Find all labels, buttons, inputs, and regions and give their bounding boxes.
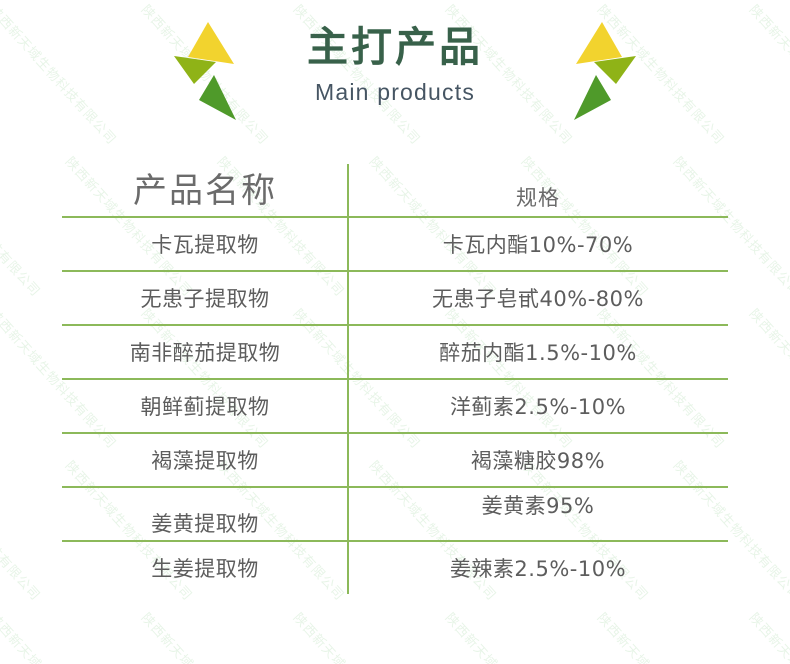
column-header-specification: 规格 — [348, 150, 728, 216]
table-header-row: 产品名称 规格 — [62, 150, 728, 216]
cell-product-name: 南非醉茄提取物 — [62, 326, 348, 378]
table-row: 卡瓦提取物 卡瓦内酯10%-70% — [62, 218, 728, 270]
products-table: 产品名称 规格 卡瓦提取物 卡瓦内酯10%-70% 无患子提取物 无患子皂甙40… — [62, 150, 728, 594]
cell-specification: 姜辣素2.5%-10% — [348, 542, 728, 594]
column-header-product-name: 产品名称 — [62, 150, 348, 216]
cell-product-name: 姜黄提取物 — [62, 488, 348, 540]
table-row: 朝鲜蓟提取物 洋蓟素2.5%-10% — [62, 380, 728, 432]
cell-product-name: 卡瓦提取物 — [62, 218, 348, 270]
page-subtitle: Main products — [0, 79, 790, 106]
table-row: 无患子提取物 无患子皂甙40%-80% — [62, 272, 728, 324]
page-title: 主打产品 — [0, 22, 790, 73]
cell-specification: 卡瓦内酯10%-70% — [348, 218, 728, 270]
page-header: 主打产品 Main products — [0, 0, 790, 140]
cell-product-name: 朝鲜蓟提取物 — [62, 380, 348, 432]
cell-product-name: 褐藻提取物 — [62, 434, 348, 486]
cell-product-name: 生姜提取物 — [62, 542, 348, 594]
cell-specification: 无患子皂甙40%-80% — [348, 272, 728, 324]
product-page: 主打产品 Main products 产品名称 规格 卡瓦提取物 卡瓦内酯10%… — [0, 0, 790, 664]
table-row: 生姜提取物 姜辣素2.5%-10% — [62, 542, 728, 594]
cell-specification: 姜黄素95% — [348, 488, 728, 540]
cell-specification: 洋蓟素2.5%-10% — [348, 380, 728, 432]
cell-specification: 醉茄内酯1.5%-10% — [348, 326, 728, 378]
cell-specification: 褐藻糖胶98% — [348, 434, 728, 486]
table-row: 姜黄提取物 姜黄素95% — [62, 488, 728, 540]
table-row: 褐藻提取物 褐藻糖胶98% — [62, 434, 728, 486]
title-block: 主打产品 Main products — [0, 22, 790, 106]
table-row: 南非醉茄提取物 醉茄内酯1.5%-10% — [62, 326, 728, 378]
cell-product-name: 无患子提取物 — [62, 272, 348, 324]
